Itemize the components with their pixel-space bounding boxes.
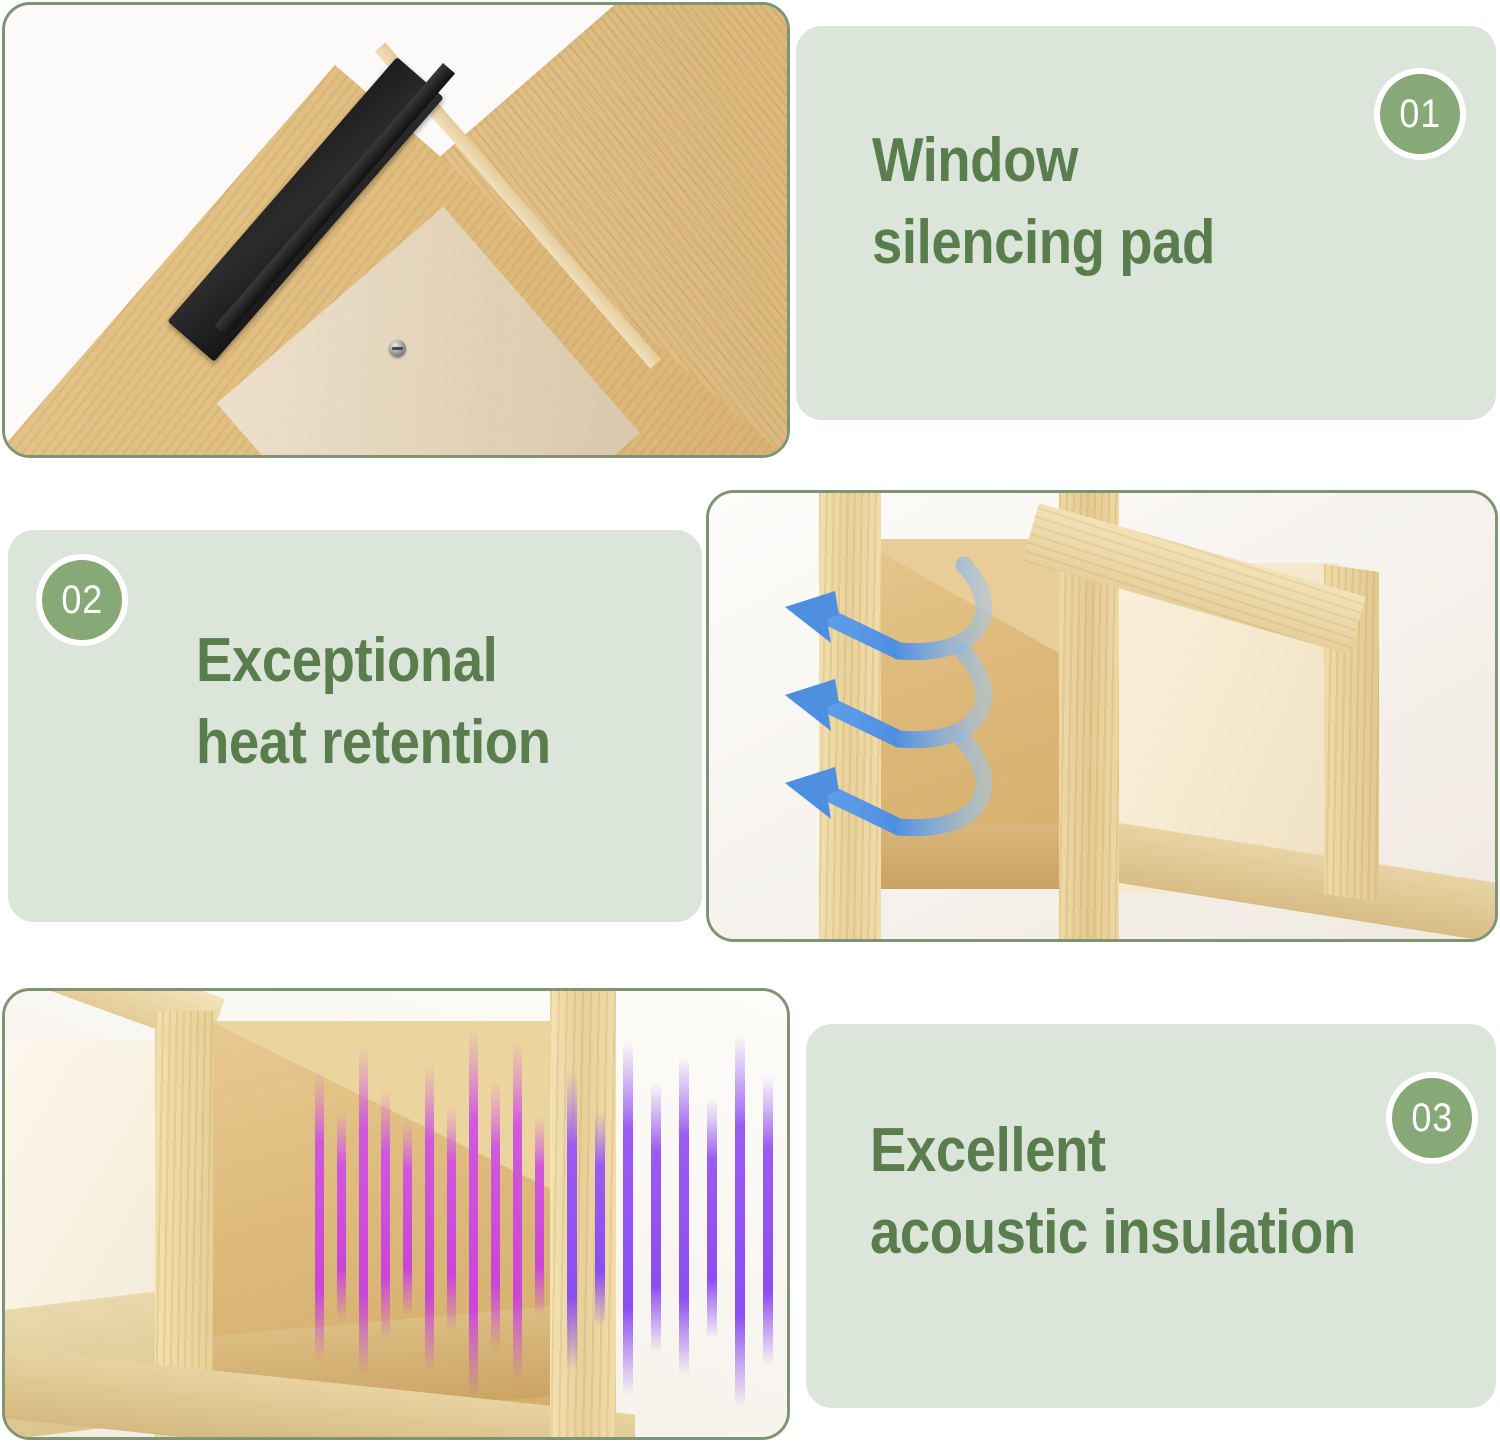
heat-arrow-2-head [785, 679, 839, 731]
sound-wave-bars [155, 1011, 790, 1431]
feature-3-headline: Excellent acoustic insulation [870, 1110, 1356, 1274]
feature-1-photo [2, 2, 790, 458]
feature-2-number-badge: 02 [36, 554, 128, 646]
heat-arrow-3-head [785, 767, 839, 819]
feature-3-photo [2, 988, 790, 1440]
heat-arrow-2 [824, 653, 984, 740]
sound-wave-inside [315, 1029, 544, 1399]
feature-2-headline: Exceptional heat retention [196, 620, 551, 784]
feature-1-headline: Window silencing pad [872, 120, 1215, 284]
heat-arrow-1 [824, 565, 984, 652]
feature-3-number-badge: 03 [1386, 1072, 1478, 1164]
heat-flow-arrows [769, 553, 1189, 893]
heat-arrow-1-head [785, 591, 839, 643]
sound-wave-outside [567, 1033, 773, 1408]
screw-icon [389, 340, 406, 357]
feature-2-number-label: 02 [61, 578, 103, 623]
feature-2-photo [706, 490, 1498, 942]
heat-arrow-group [769, 553, 1189, 893]
heat-arrow-3 [824, 741, 984, 828]
sound-wave-group [155, 1011, 790, 1431]
feature-3-number-label: 03 [1411, 1096, 1453, 1141]
feature-1-number-label: 01 [1399, 92, 1441, 137]
feature-1-number-badge: 01 [1374, 68, 1466, 160]
